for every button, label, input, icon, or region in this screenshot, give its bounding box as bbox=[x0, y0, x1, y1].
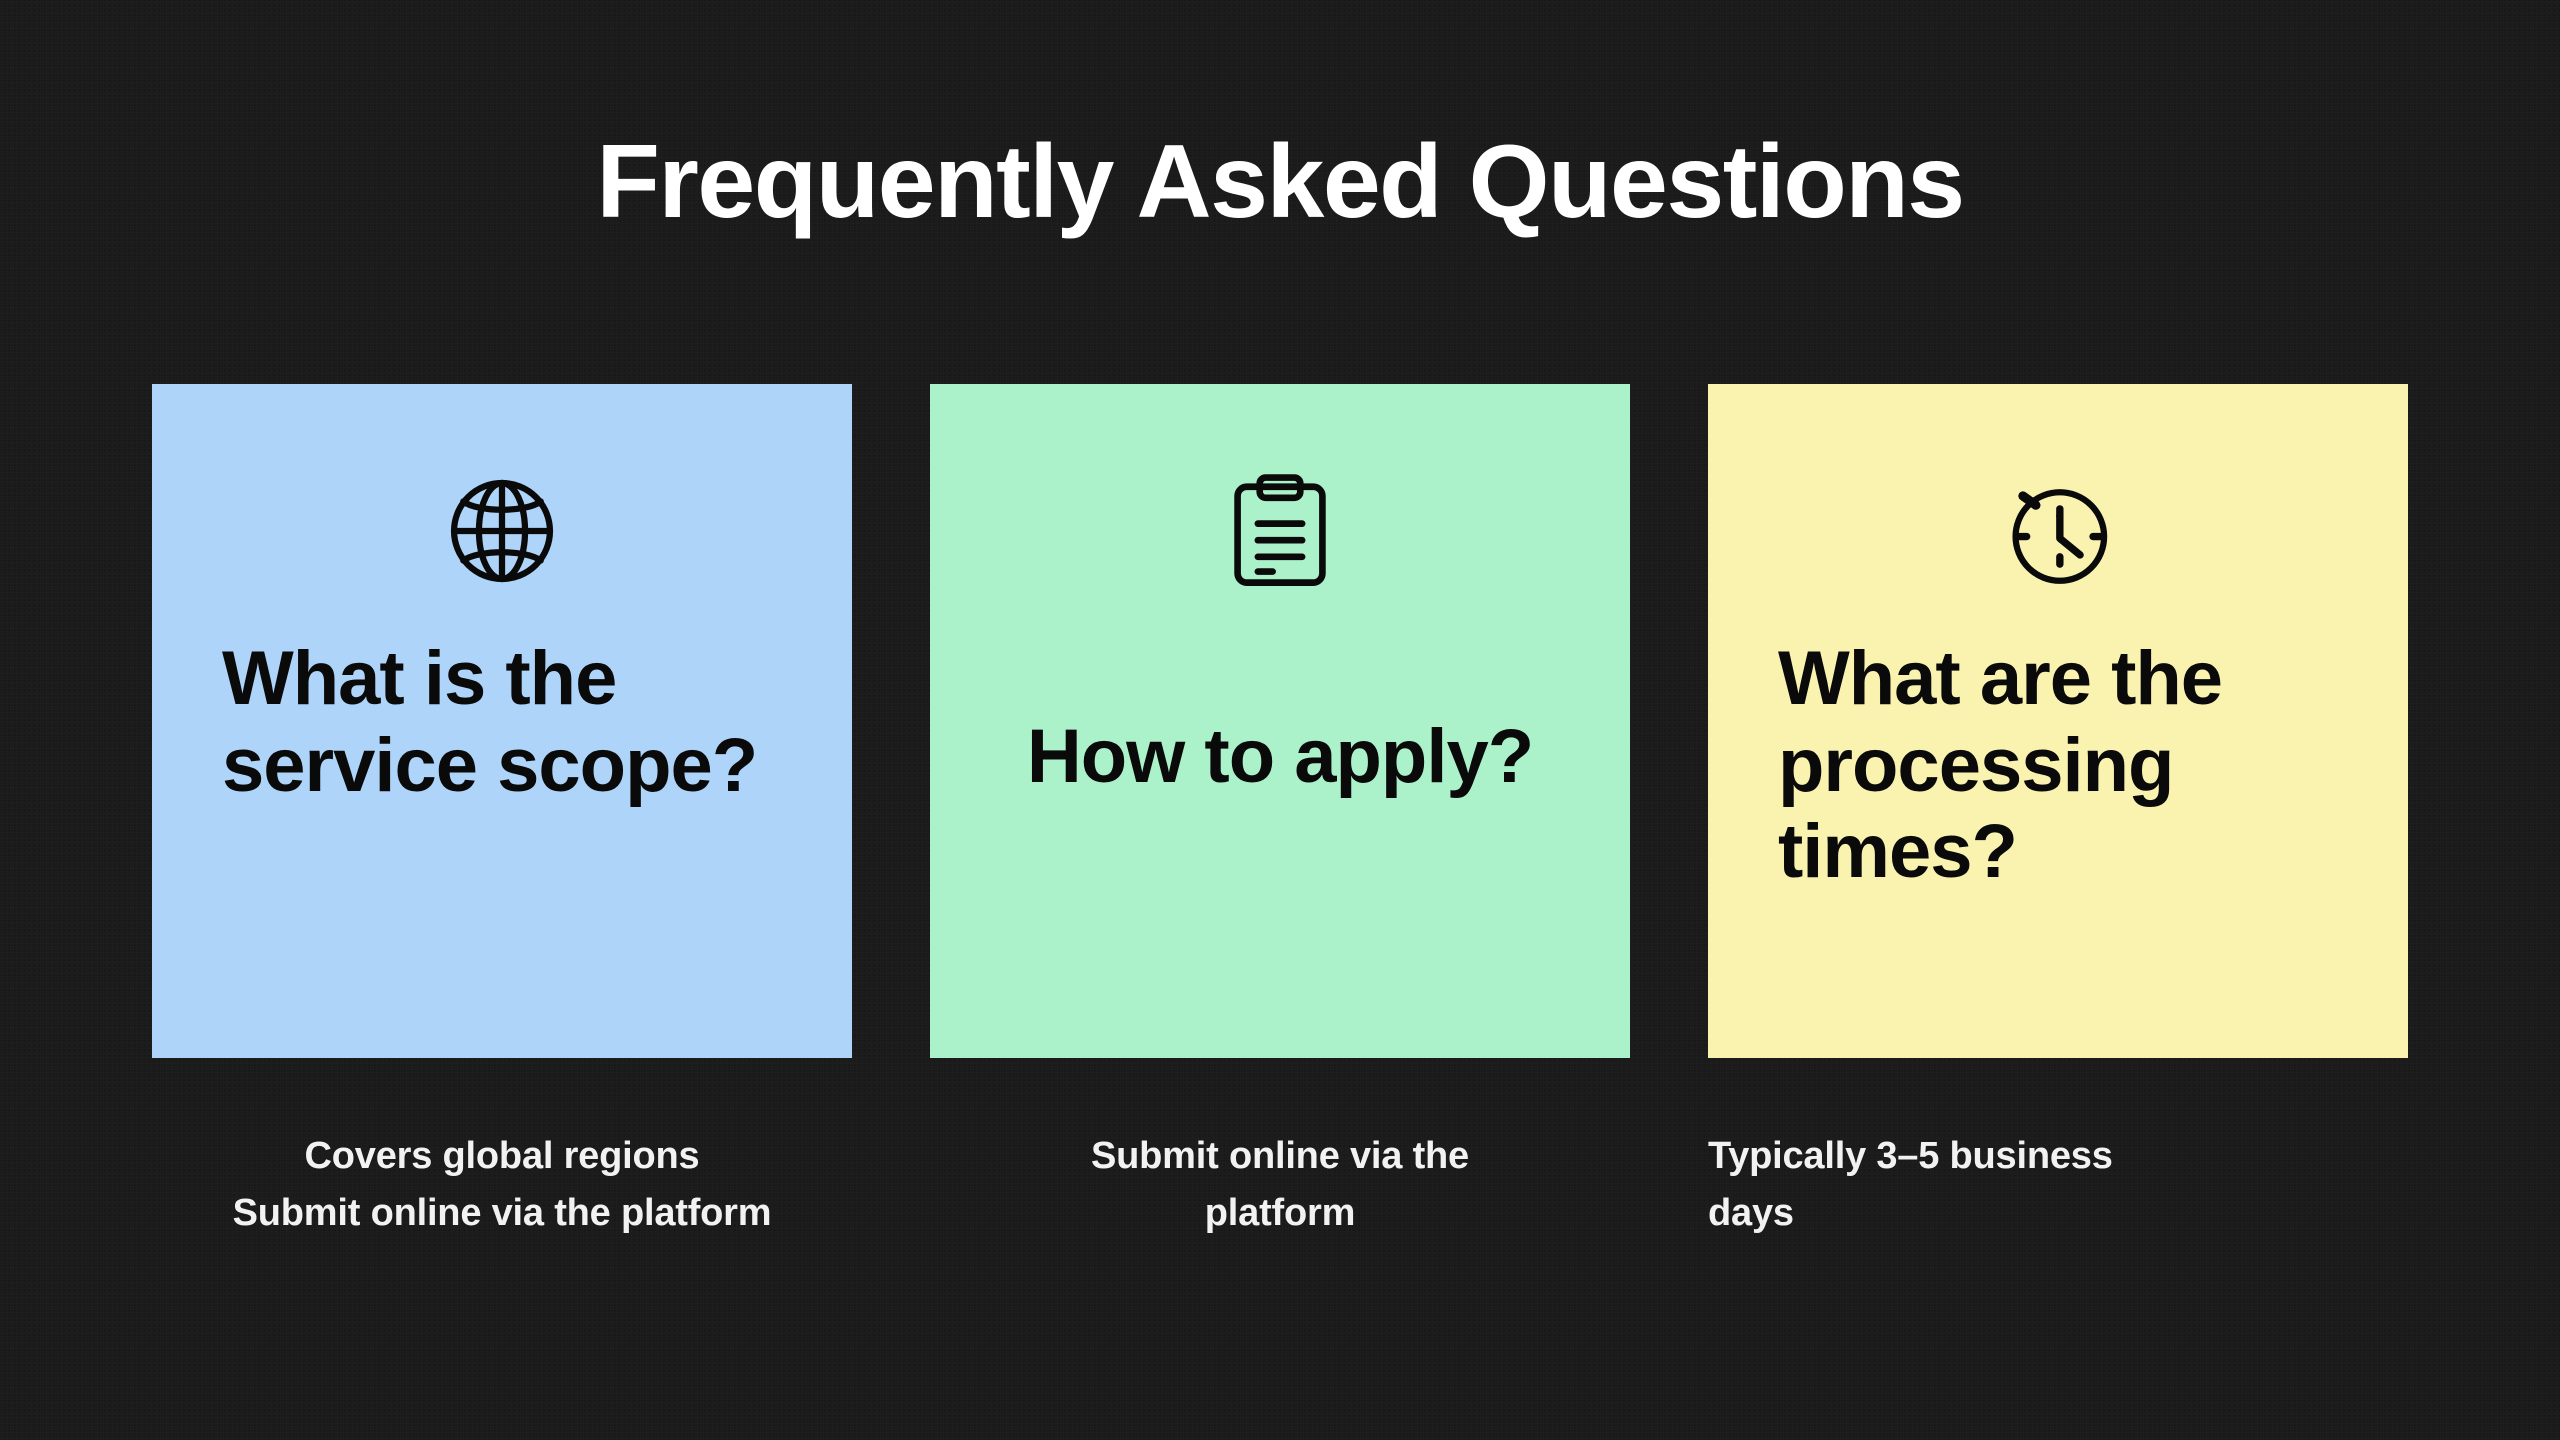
faq-cards-row: What is the service scope? How to apply? bbox=[152, 384, 2408, 1058]
page-title: Frequently Asked Questions bbox=[0, 128, 2560, 237]
faq-caption-line: Submit online via the platform bbox=[152, 1185, 852, 1242]
faq-card-heading: What is the service scope? bbox=[222, 636, 782, 809]
faq-captions-row: Covers global regions Submit online via … bbox=[152, 1128, 2408, 1242]
faq-card-heading: What are the processing times? bbox=[1778, 636, 2338, 896]
faq-caption-line: platform bbox=[930, 1185, 1630, 1242]
faq-caption: Submit online via the platform bbox=[930, 1128, 1630, 1242]
faq-caption-line: days bbox=[1708, 1185, 2408, 1242]
faq-caption-line: Typically 3–5 business bbox=[1708, 1128, 2408, 1185]
faq-card-heading: How to apply? bbox=[1000, 714, 1560, 801]
faq-caption-line: Submit online via the bbox=[930, 1128, 1630, 1185]
clipboard-icon bbox=[1000, 472, 1560, 590]
faq-slide: Frequently Asked Questions What is the s… bbox=[0, 0, 2560, 1440]
faq-card-processing-times[interactable]: What are the processing times? bbox=[1708, 384, 2408, 1058]
globe-icon bbox=[222, 472, 782, 590]
faq-caption: Covers global regions Submit online via … bbox=[152, 1128, 852, 1242]
faq-card-service-scope[interactable]: What is the service scope? bbox=[152, 384, 852, 1058]
clock-icon bbox=[1778, 472, 2338, 590]
faq-caption: Typically 3–5 business days bbox=[1708, 1128, 2408, 1242]
faq-card-how-to-apply[interactable]: How to apply? bbox=[930, 384, 1630, 1058]
faq-caption-line: Covers global regions bbox=[152, 1128, 852, 1185]
